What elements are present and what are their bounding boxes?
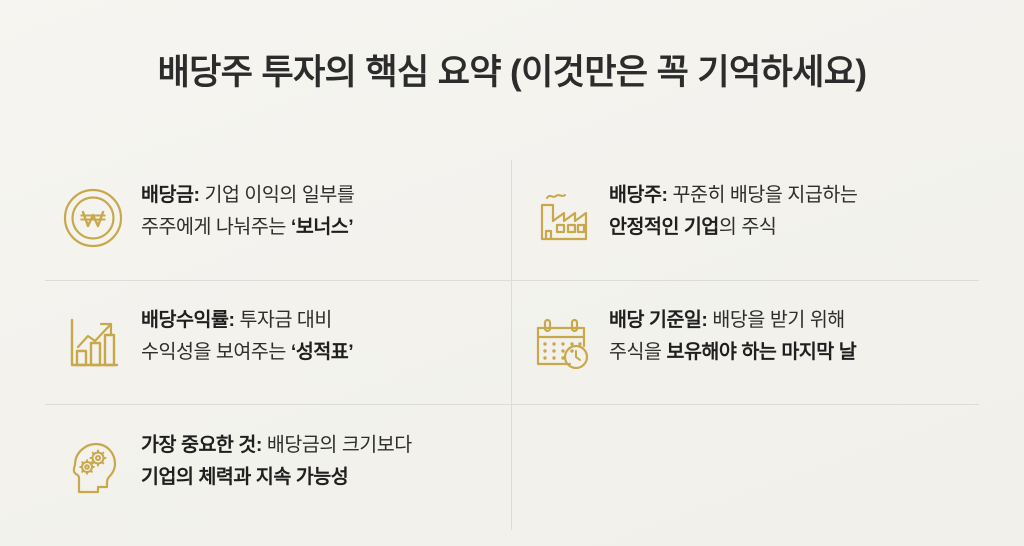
card-line-2: 수익성을 보여주는 ‘성적표’ <box>141 337 353 369</box>
summary-card-dividend-stock: 배당주: 꾸준히 배당을 지급하는 안정적인 기업의 주식 <box>513 160 979 284</box>
card-line-1-regular: 기업 이익의 일부를 <box>200 184 355 206</box>
card-line-1-bold: 가장 중요한 것: <box>141 434 262 456</box>
card-line-2-bold: 안정적인 기업 <box>609 216 719 238</box>
summary-card-text: 배당수익률: 투자금 대비 수익성을 보여주는 ‘성적표’ <box>141 285 353 368</box>
summary-card-grid: 배당금: 기업 이익의 일부를 주주에게 나눠주는 ‘보너스’ 배당 <box>45 160 979 532</box>
card-line-1: 배당 기준일: 배당을 받기 위해 <box>609 305 856 337</box>
card-line-1-bold: 배당수익률: <box>141 309 235 331</box>
card-line-1: 배당주: 꾸준히 배당을 지급하는 <box>609 180 857 212</box>
card-line-2-regular: 의 주식 <box>719 216 776 238</box>
card-line-2-regular: 주주에게 나눠주는 <box>141 216 291 238</box>
summary-card-dividend: 배당금: 기업 이익의 일부를 주주에게 나눠주는 ‘보너스’ <box>45 160 511 284</box>
card-line-1-bold: 배당금: <box>141 184 200 206</box>
card-line-2: 주주에게 나눠주는 ‘보너스’ <box>141 212 354 244</box>
card-line-1-regular: 배당금의 크기보다 <box>262 434 412 456</box>
summary-card-text: 배당금: 기업 이익의 일부를 주주에게 나눠주는 ‘보너스’ <box>141 160 354 243</box>
card-line-2-bold: ‘성적표’ <box>291 341 353 363</box>
summary-card-record-date: 배당 기준일: 배당을 받기 위해 주식을 보유해야 하는 마지막 날 <box>513 285 979 409</box>
card-line-1: 가장 중요한 것: 배당금의 크기보다 <box>141 430 412 462</box>
page-title: 배당주 투자의 핵심 요약 (이것만은 꼭 기억하세요) <box>158 52 867 94</box>
card-line-1: 배당수익률: 투자금 대비 <box>141 305 353 337</box>
card-line-2-bold: 기업의 체력과 지속 가능성 <box>141 466 348 488</box>
summary-card-dividend-yield: 배당수익률: 투자금 대비 수익성을 보여주는 ‘성적표’ <box>45 285 511 409</box>
won-coin-icon <box>45 170 141 266</box>
card-line-1-regular: 꾸준히 배당을 지급하는 <box>668 184 858 206</box>
summary-card-text: 배당 기준일: 배당을 받기 위해 주식을 보유해야 하는 마지막 날 <box>609 285 856 368</box>
summary-card-most-important: 가장 중요한 것: 배당금의 크기보다 기업의 체력과 지속 가능성 <box>45 410 511 532</box>
card-line-2: 기업의 체력과 지속 가능성 <box>141 462 412 494</box>
card-line-1-regular: 배당을 받기 위해 <box>707 309 844 331</box>
head-gears-icon <box>45 420 141 516</box>
card-line-2-bold: ‘보너스’ <box>291 216 353 238</box>
card-line-1-bold: 배당 기준일: <box>609 309 707 331</box>
card-line-2-bold: 보유해야 하는 마지막 날 <box>666 341 856 363</box>
summary-card-text: 배당주: 꾸준히 배당을 지급하는 안정적인 기업의 주식 <box>609 160 857 243</box>
bar-chart-growth-icon <box>45 295 141 391</box>
card-line-2-regular: 수익성을 보여주는 <box>141 341 291 363</box>
card-line-1-regular: 투자금 대비 <box>235 309 332 331</box>
factory-icon <box>513 170 609 266</box>
summary-card-text: 가장 중요한 것: 배당금의 크기보다 기업의 체력과 지속 가능성 <box>141 410 412 493</box>
card-line-2: 주식을 보유해야 하는 마지막 날 <box>609 337 856 369</box>
card-line-2-regular: 주식을 <box>609 341 666 363</box>
page-title-wrapper: 배당주 투자의 핵심 요약 (이것만은 꼭 기억하세요) <box>0 52 1024 94</box>
card-line-1-bold: 배당주: <box>609 184 668 206</box>
card-line-1: 배당금: 기업 이익의 일부를 <box>141 180 354 212</box>
card-line-2: 안정적인 기업의 주식 <box>609 212 857 244</box>
calendar-clock-icon <box>513 295 609 391</box>
infographic-slide: 배당주 투자의 핵심 요약 (이것만은 꼭 기억하세요) 배당금: 기업 이익의… <box>0 0 1024 546</box>
